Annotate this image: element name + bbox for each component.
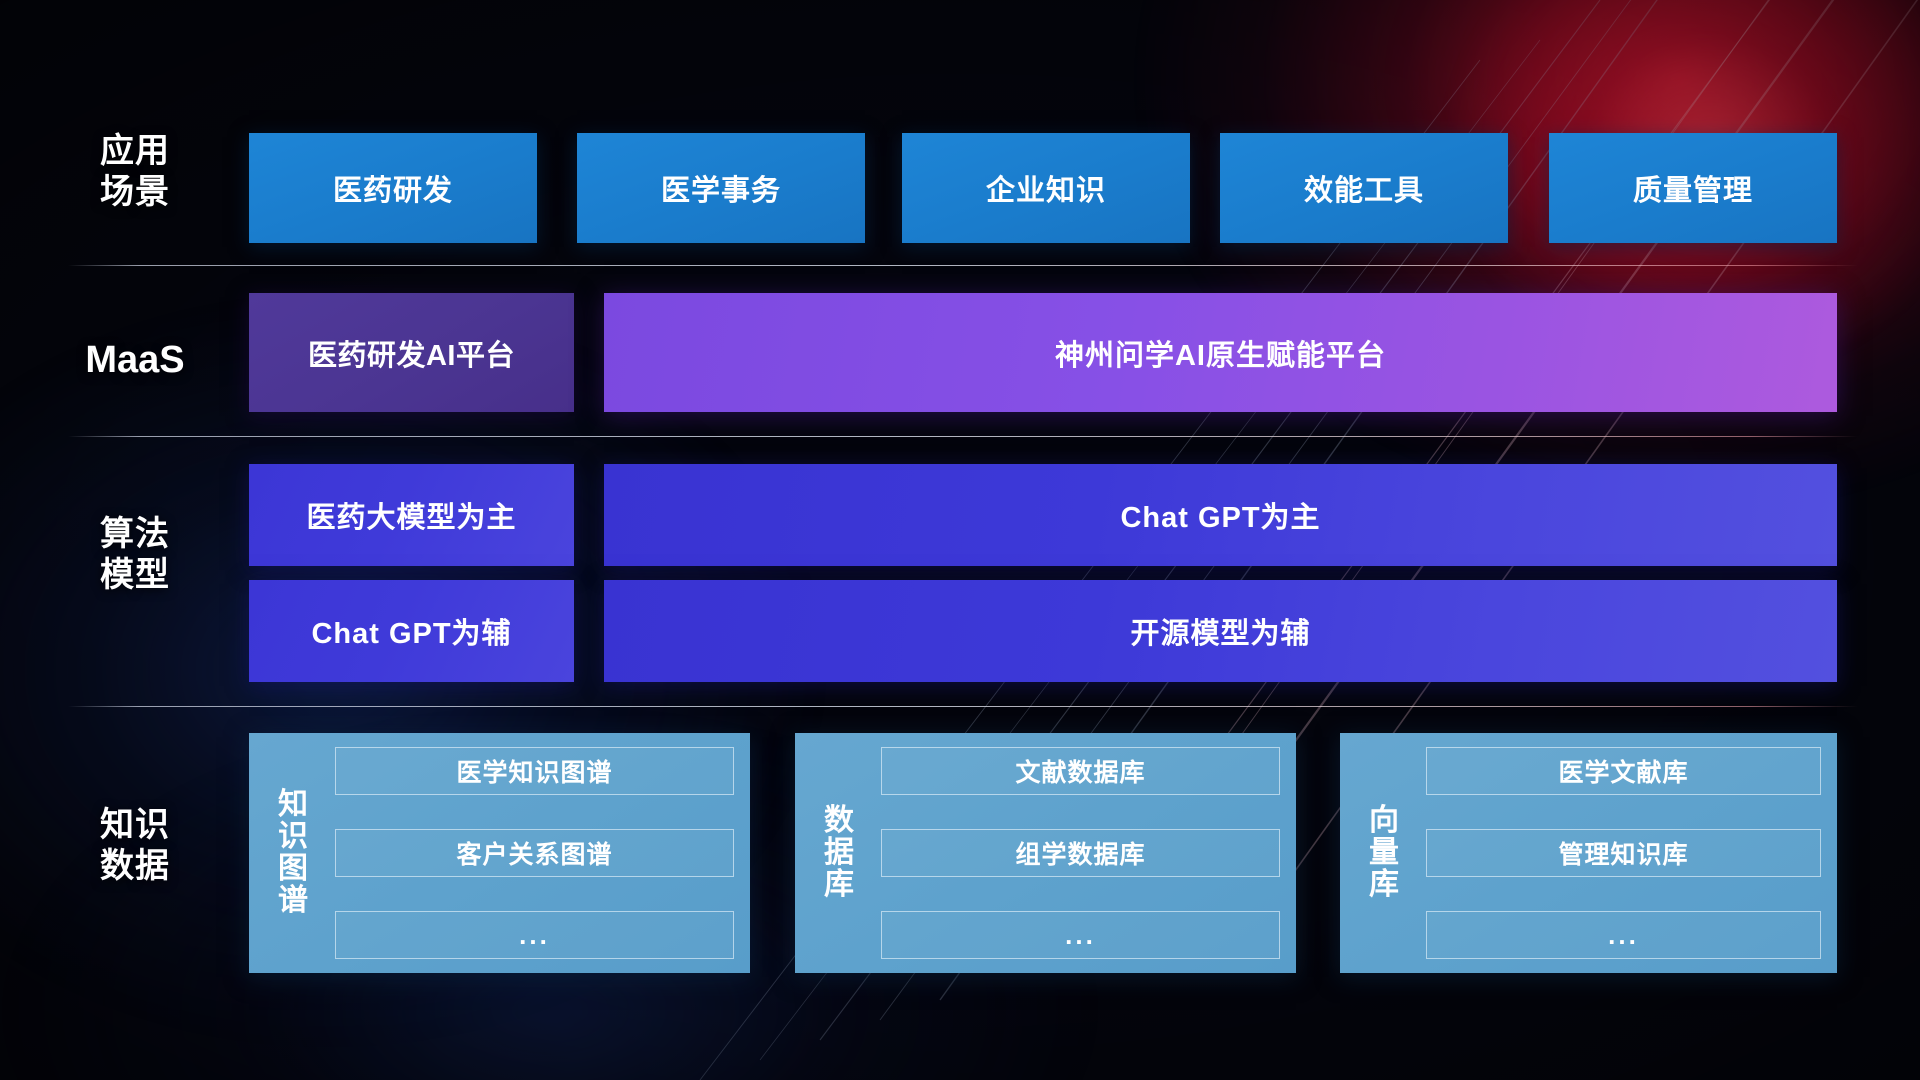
- scene-box-label: 医药研发: [333, 167, 453, 209]
- knowledge-item-more[interactable]: ...: [881, 911, 1280, 959]
- algo-box-opensource-model-secondary[interactable]: 开源模型为辅: [604, 580, 1837, 682]
- tier-label-line: 应用: [60, 131, 210, 172]
- algo-box-chatgpt-primary[interactable]: Chat GPT为主: [604, 464, 1837, 566]
- knowledge-item[interactable]: 客户关系图谱: [335, 829, 734, 877]
- knowledge-panel-label: 向量库: [1356, 747, 1412, 959]
- scene-box-label: 医学事务: [661, 167, 781, 209]
- scene-box-efficiency-tools[interactable]: 效能工具: [1220, 133, 1508, 243]
- maas-box-shenzhou-wenxue-platform[interactable]: 神州问学AI原生赋能平台: [604, 293, 1837, 412]
- divider-after-maas: [68, 436, 1858, 437]
- tier-label-application-scenarios: 应用 场景: [60, 131, 210, 214]
- maas-box-label: 医药研发AI平台: [308, 332, 515, 374]
- knowledge-item[interactable]: 组学数据库: [881, 829, 1280, 877]
- algo-box-label: 医药大模型为主: [306, 494, 516, 536]
- scene-box-label: 效能工具: [1304, 167, 1424, 209]
- knowledge-panel-items: 文献数据库 组学数据库 ...: [881, 747, 1280, 959]
- tier-label-line: 知识: [60, 805, 210, 846]
- algo-box-label: Chat GPT为主: [1120, 494, 1320, 536]
- knowledge-panel-label: 知识图谱: [265, 747, 321, 959]
- algo-box-label: Chat GPT为辅: [311, 610, 511, 652]
- knowledge-item[interactable]: 管理知识库: [1426, 829, 1821, 877]
- tier-label-line: MaaS: [60, 337, 210, 383]
- scene-box-enterprise-knowledge[interactable]: 企业知识: [902, 133, 1190, 243]
- tier-label-line: 算法: [60, 514, 210, 555]
- knowledge-item[interactable]: 文献数据库: [881, 747, 1280, 795]
- maas-box-medicine-rd-ai-platform[interactable]: 医药研发AI平台: [249, 293, 574, 412]
- tier-label-line: 场景: [60, 172, 210, 213]
- tier-label-maas: MaaS: [60, 337, 210, 383]
- algo-box-chatgpt-secondary[interactable]: Chat GPT为辅: [249, 580, 574, 682]
- knowledge-item-more[interactable]: ...: [1426, 911, 1821, 959]
- knowledge-panel-label: 数据库: [811, 747, 867, 959]
- scene-box-medical-affairs[interactable]: 医学事务: [577, 133, 865, 243]
- tier-label-line: 模型: [60, 555, 210, 596]
- knowledge-panel-knowledge-graph[interactable]: 知识图谱 医学知识图谱 客户关系图谱 ...: [249, 733, 750, 973]
- scene-box-label: 质量管理: [1633, 167, 1753, 209]
- scene-box-medicine-rd[interactable]: 医药研发: [249, 133, 537, 243]
- scene-box-label: 企业知识: [986, 167, 1106, 209]
- divider-after-algorithm-models: [68, 706, 1858, 707]
- knowledge-panel-vector-store[interactable]: 向量库 医学文献库 管理知识库 ...: [1340, 733, 1837, 973]
- knowledge-panel-database[interactable]: 数据库 文献数据库 组学数据库 ...: [795, 733, 1296, 973]
- architecture-diagram: 应用 场景 医药研发 医学事务 企业知识 效能工具 质量管理 MaaS 医药研发…: [0, 0, 1920, 1080]
- algo-box-medicine-large-model-primary[interactable]: 医药大模型为主: [249, 464, 574, 566]
- tier-label-algorithm-models: 算法 模型: [60, 514, 210, 597]
- tier-label-line: 数据: [60, 846, 210, 887]
- knowledge-item-more[interactable]: ...: [335, 911, 734, 959]
- knowledge-panel-items: 医学知识图谱 客户关系图谱 ...: [335, 747, 734, 959]
- knowledge-item[interactable]: 医学知识图谱: [335, 747, 734, 795]
- algo-box-label: 开源模型为辅: [1130, 610, 1310, 652]
- divider-after-application-scenarios: [68, 265, 1858, 266]
- tier-label-knowledge-data: 知识 数据: [60, 805, 210, 888]
- knowledge-panel-items: 医学文献库 管理知识库 ...: [1426, 747, 1821, 959]
- maas-box-label: 神州问学AI原生赋能平台: [1055, 332, 1386, 374]
- knowledge-item[interactable]: 医学文献库: [1426, 747, 1821, 795]
- scene-box-quality-management[interactable]: 质量管理: [1549, 133, 1837, 243]
